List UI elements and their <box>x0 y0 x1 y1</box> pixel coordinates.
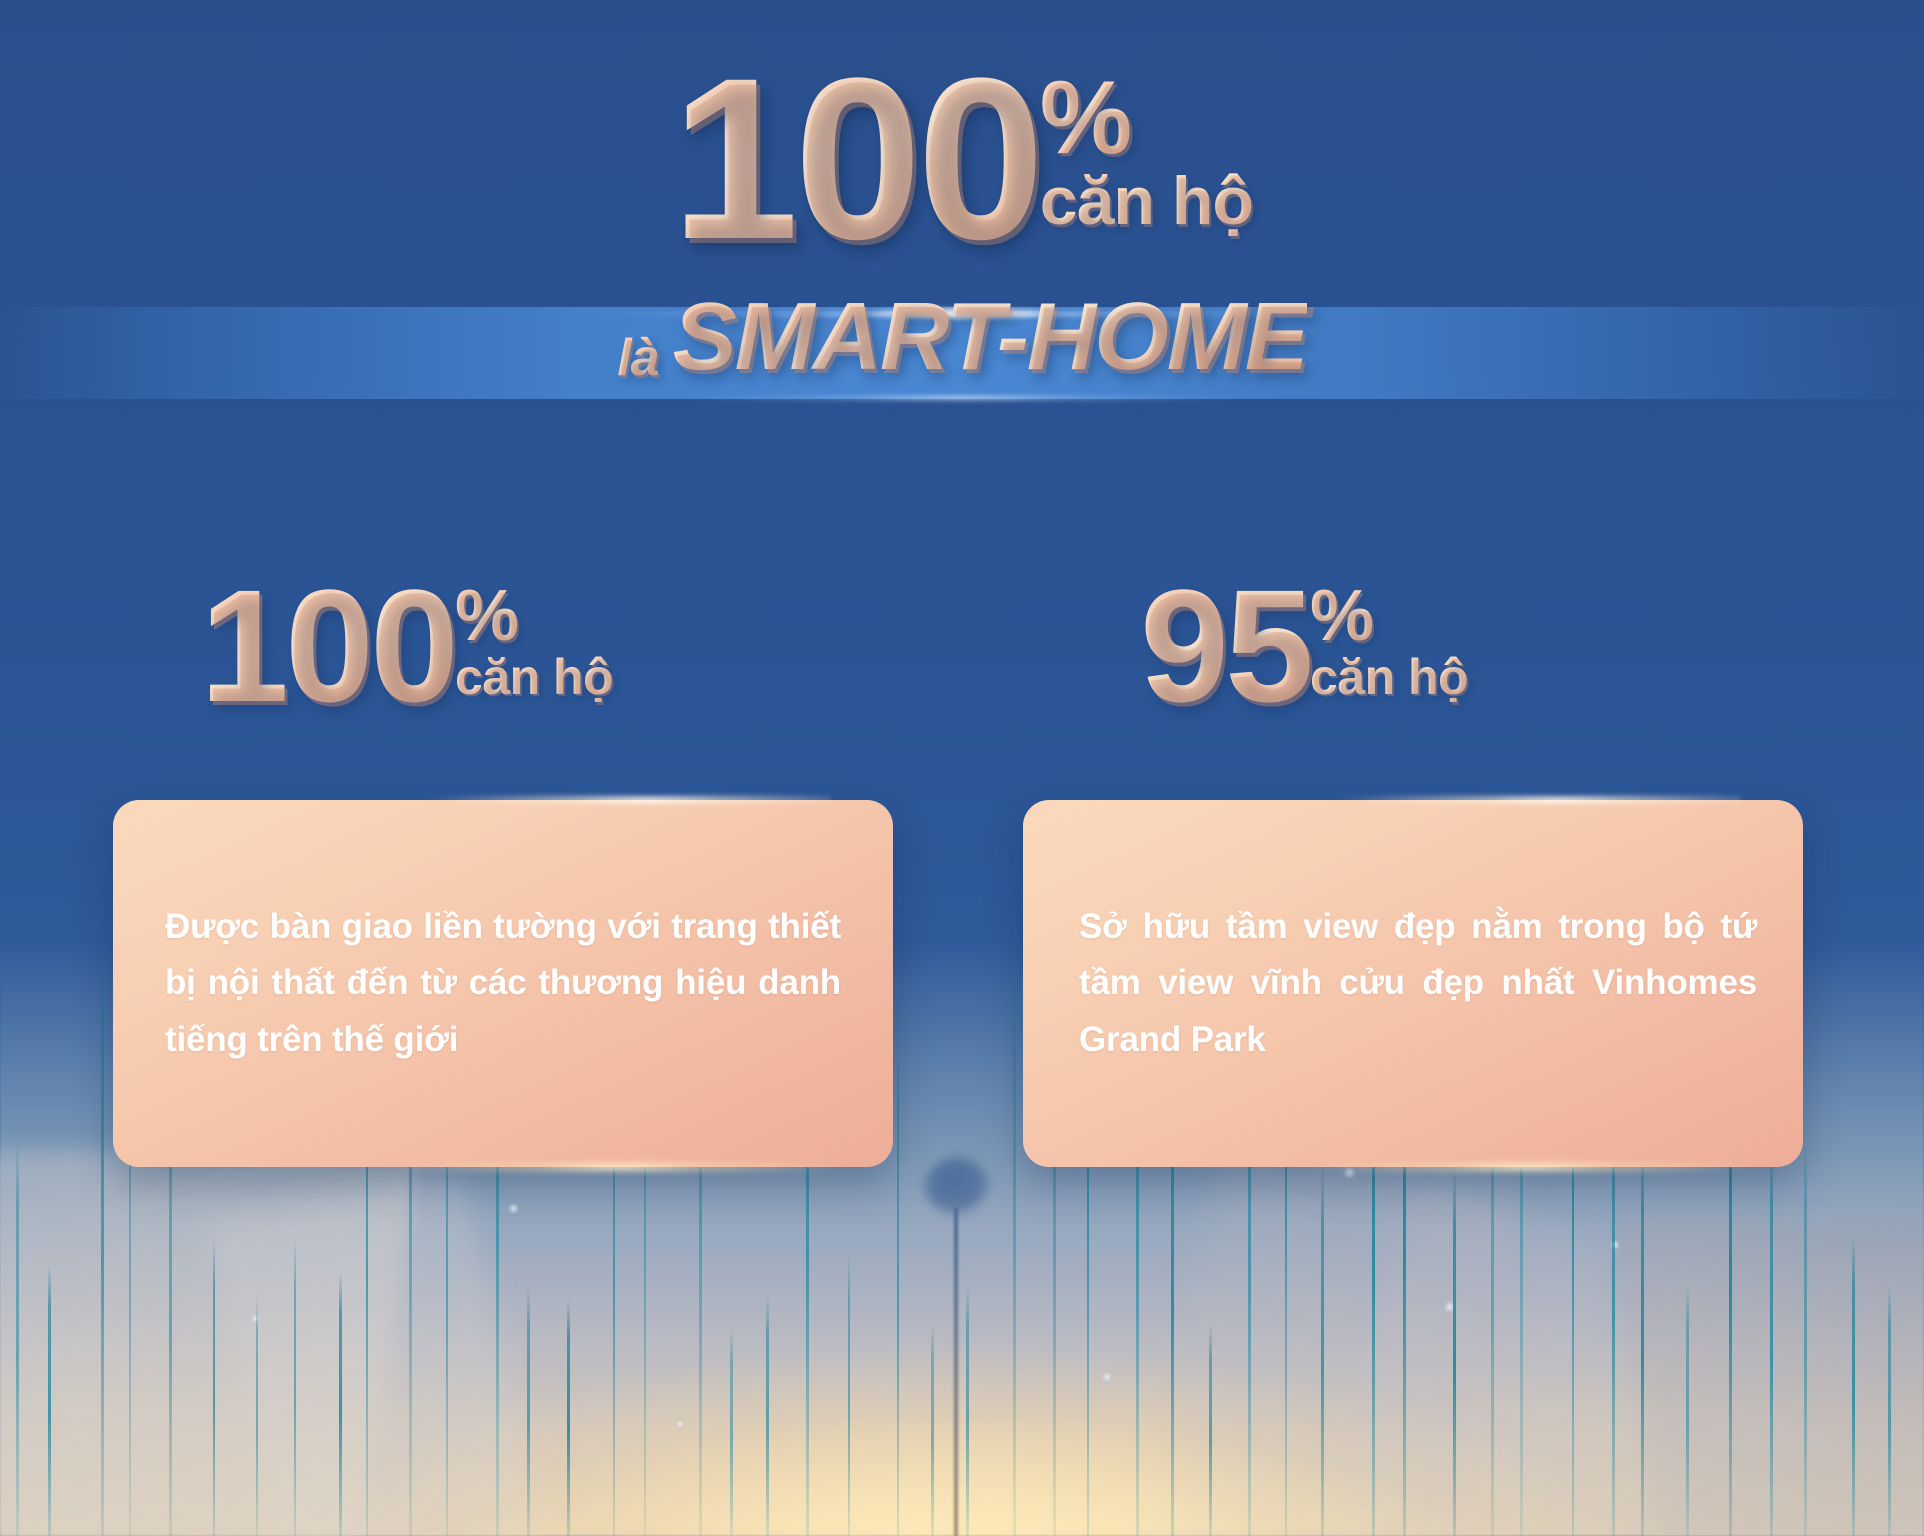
decor-line <box>1641 1143 1644 1536</box>
decor-line <box>931 1325 934 1536</box>
decor-line <box>897 1021 899 1536</box>
decor-line <box>1852 1235 1855 1536</box>
banner-text-group: là SMART-HOME <box>0 272 1924 402</box>
decor-line <box>527 1287 530 1536</box>
stat-1-unit-label: căn hộ <box>455 652 613 702</box>
decor-line <box>1013 892 1016 1536</box>
decor-line <box>48 1264 51 1536</box>
decor-line <box>567 1299 570 1536</box>
decor-line <box>1453 1167 1456 1536</box>
stat-1-percent-symbol: % <box>455 586 518 648</box>
decor-line <box>294 1239 296 1536</box>
hero-percent-symbol: % <box>1040 74 1130 163</box>
decor-line <box>966 1286 969 1536</box>
decor-line <box>1209 1324 1212 1536</box>
decor-line <box>16 1139 19 1536</box>
decor-line <box>1888 1285 1891 1536</box>
decor-line <box>1321 1163 1324 1536</box>
feature-card-2: Sở hữu tầm view đẹp nằm trong bộ tứ tầm … <box>1023 800 1803 1167</box>
decor-line <box>1770 1141 1773 1536</box>
decor-line <box>1804 1140 1807 1536</box>
stat-2-percent-symbol: % <box>1310 586 1373 648</box>
stat-2-unit-label: căn hộ <box>1310 652 1468 702</box>
decor-line <box>848 1253 850 1536</box>
decor-line <box>256 1295 258 1536</box>
hero-unit-label: căn hộ <box>1040 167 1253 236</box>
hero-number: 100 <box>671 52 1040 266</box>
stat-2-number: 95 <box>1140 572 1310 719</box>
feature-card-2-text: Sở hữu tầm view đẹp nằm trong bộ tứ tầm … <box>1079 898 1757 1068</box>
decor-line <box>1686 1284 1689 1536</box>
hero-headline: 100 % căn hộ <box>0 52 1924 302</box>
stat-block-2: 95 % căn hộ <box>1140 572 1468 719</box>
decor-line <box>339 1271 342 1536</box>
banner-prefix: là <box>617 328 658 388</box>
decor-line <box>213 1238 215 1536</box>
decor-line <box>766 1295 769 1536</box>
decor-line <box>730 1329 733 1536</box>
banner-title: SMART-HOME <box>673 282 1307 392</box>
infographic-canvas: 100 % căn hộ là SMART-HOME 100 % căn hộ … <box>0 0 1924 1536</box>
feature-card-1-text: Được bàn giao liền tường với trang thiết… <box>165 898 841 1068</box>
stat-block-1: 100 % căn hộ <box>200 572 613 719</box>
feature-card-1: Được bàn giao liền tường với trang thiết… <box>113 800 893 1167</box>
stat-1-number: 100 <box>200 572 455 719</box>
decor-line <box>101 924 104 1536</box>
